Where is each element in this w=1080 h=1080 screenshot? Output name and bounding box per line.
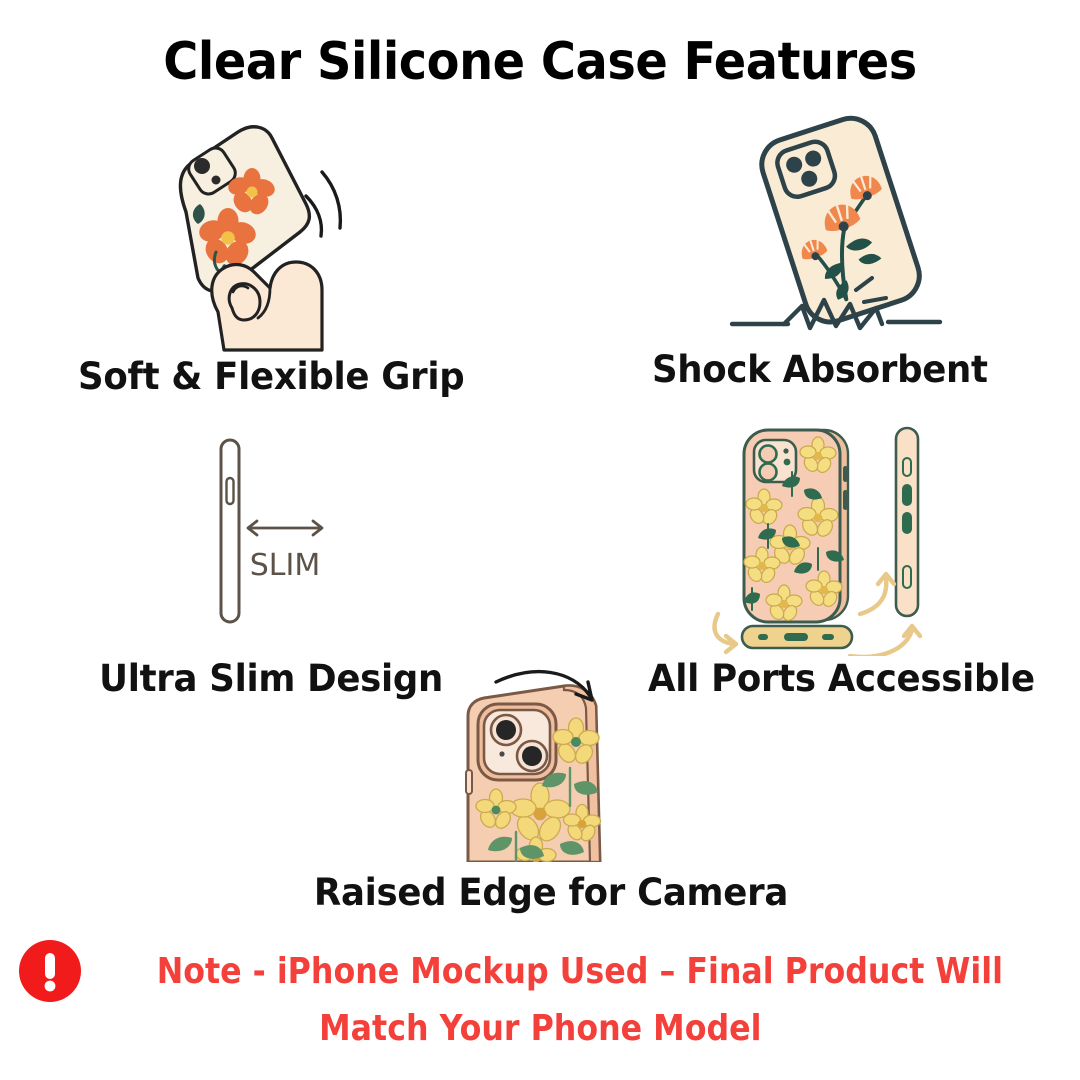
note-banner: Note - iPhone Mockup Used – Final Produc… [0, 940, 1080, 1049]
phone-side-profile-slim-icon: SLIM [185, 430, 360, 630]
note-line-1: Note - iPhone Mockup Used – Final Produc… [157, 951, 1003, 992]
caption-soft-flexible-grip: Soft & Flexible Grip [78, 355, 464, 398]
hand-flexing-phone-case-icon [120, 112, 380, 352]
slim-label: SLIM [250, 548, 321, 583]
illustration-shock-absorbent [710, 112, 960, 352]
illustration-soft-flexible-grip [120, 112, 380, 352]
note-line-1-row: Note - iPhone Mockup Used – Final Produc… [19, 940, 1061, 1002]
caption-all-ports-accessible: All Ports Accessible [648, 657, 1035, 700]
phone-raised-camera-edge-icon [440, 662, 650, 862]
caption-shock-absorbent: Shock Absorbent [652, 348, 988, 391]
illustration-ultra-slim-design: SLIM [185, 430, 360, 630]
note-line-2-row: Match Your Phone Model [289, 1008, 792, 1049]
note-line-2: Match Your Phone Model [319, 1008, 761, 1049]
phone-impact-shock-icon [710, 112, 960, 352]
caption-raised-edge-camera: Raised Edge for Camera [314, 871, 788, 914]
exclamation-circle-icon [19, 940, 81, 1002]
illustration-all-ports-accessible [700, 418, 950, 656]
illustration-raised-edge-camera [440, 662, 650, 862]
infographic-page: Clear Silicone Case Features [0, 0, 1080, 1080]
caption-ultra-slim-design: Ultra Slim Design [99, 657, 443, 700]
page-title: Clear Silicone Case Features [43, 32, 1037, 92]
phone-ports-cutouts-icon [700, 418, 950, 656]
